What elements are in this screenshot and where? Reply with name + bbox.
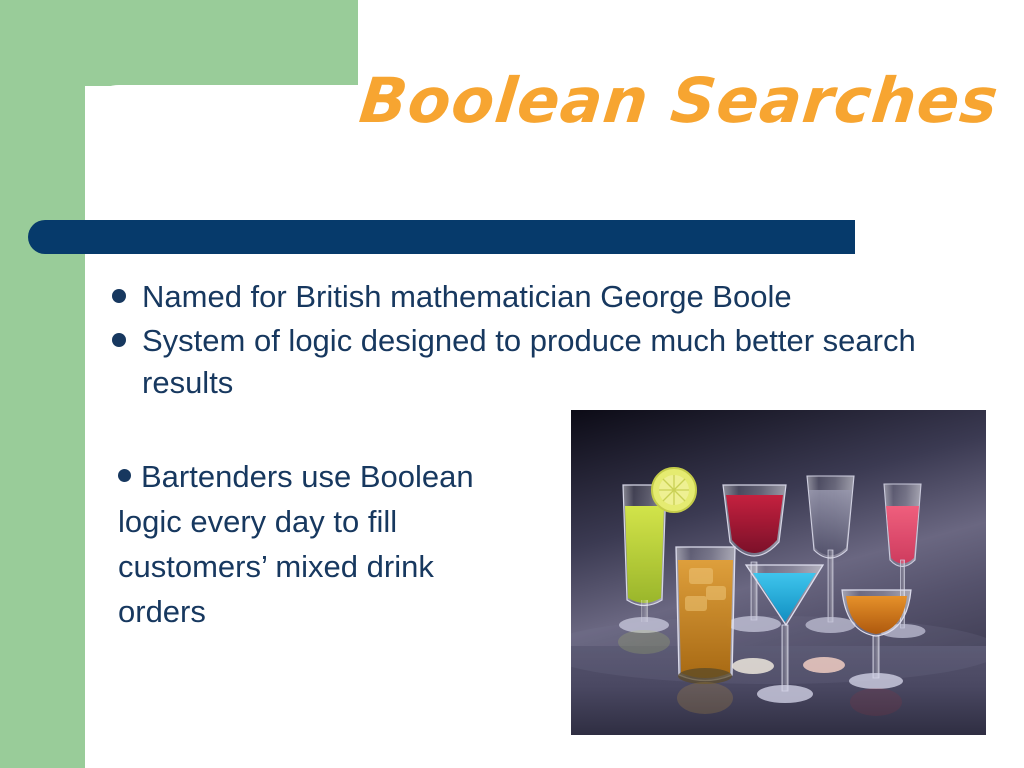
navy-divider-bar: [28, 220, 855, 254]
bullet-list-secondary: Bartenders use Boolean logic every day t…: [118, 455, 518, 635]
bullet-dot-icon: [112, 289, 126, 303]
bullet-item: Named for British mathematician George B…: [112, 276, 1002, 318]
mixed-drinks-photo: [571, 410, 986, 735]
bullet-item-text: Bartenders use Boolean logic every day t…: [118, 459, 474, 629]
bullet-item-text: Named for British mathematician George B…: [142, 276, 1002, 318]
bullet-dot-icon: [112, 333, 126, 347]
presentation-slide: Boolean Searches Named for British mathe…: [0, 0, 1024, 768]
bullet-item: System of logic designed to produce much…: [112, 320, 1002, 404]
green-accent-strip: [0, 0, 85, 768]
slide-title: Boolean Searches: [357, 68, 964, 133]
mixed-drinks-illustration: [571, 410, 986, 735]
bullet-item-text: System of logic designed to produce much…: [142, 320, 1002, 404]
bullet-dot-icon: [118, 469, 131, 482]
bullet-list-primary: Named for British mathematician George B…: [112, 276, 1002, 406]
